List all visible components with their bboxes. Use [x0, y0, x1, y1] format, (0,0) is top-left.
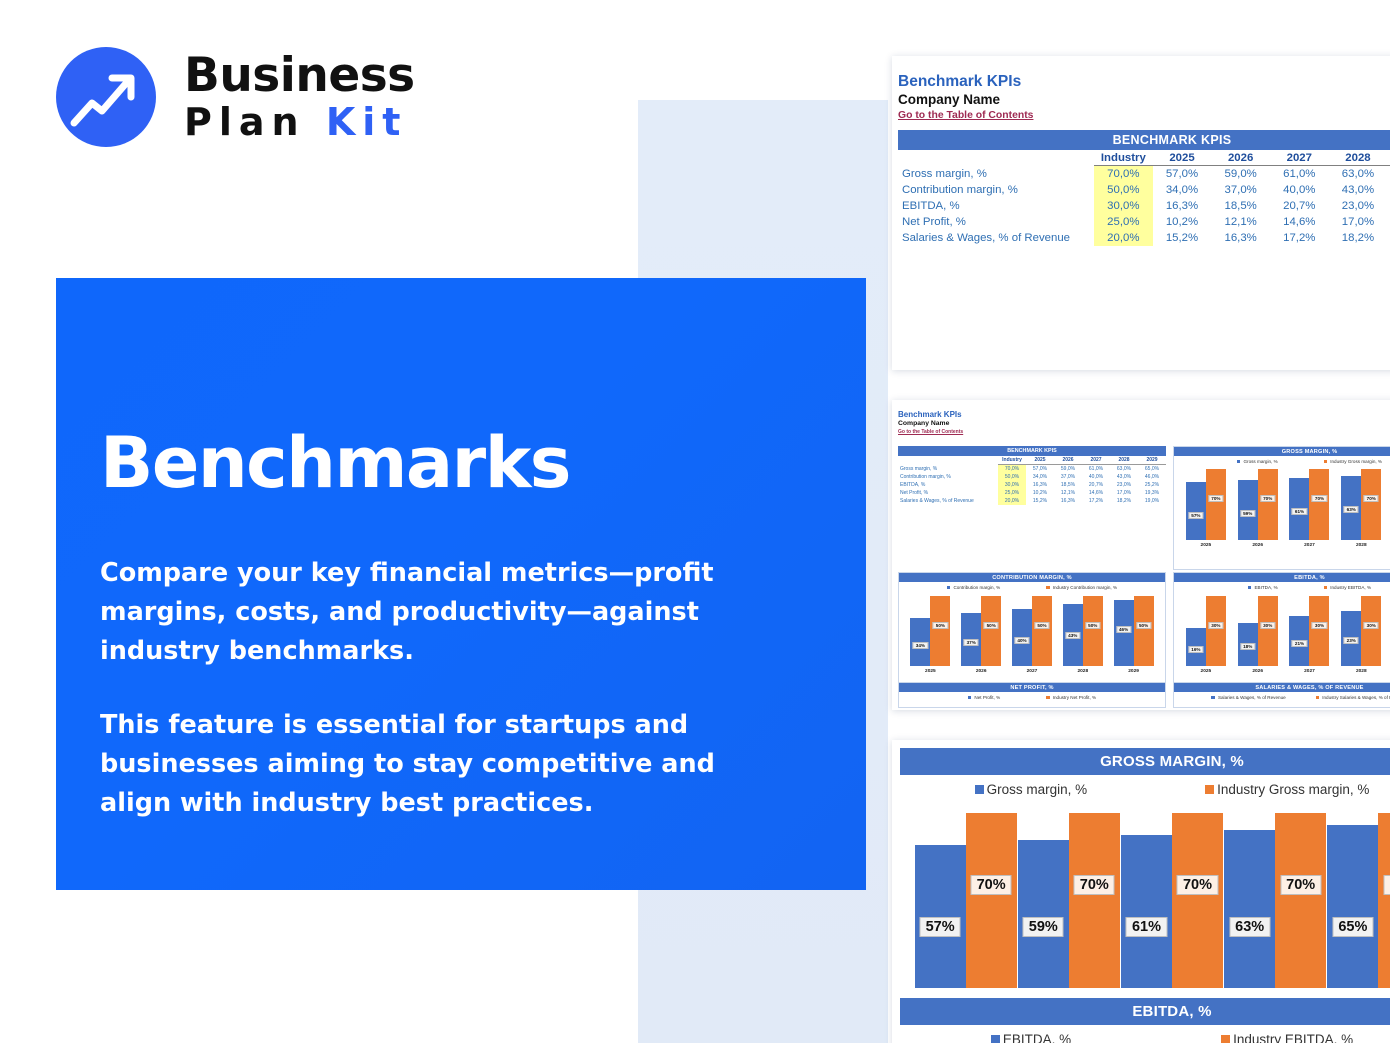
bar-group: 63% 70% — [1224, 813, 1326, 988]
legend-swatch-blue — [1211, 696, 1215, 700]
bar-group: 40%50% — [1012, 596, 1052, 666]
col-2027: 2027 — [1082, 456, 1110, 465]
col-2026: 2026 — [1054, 456, 1082, 465]
bar-company: 59% — [1018, 840, 1069, 988]
hero-paragraph-1: Compare your key financial metrics—profi… — [100, 554, 725, 670]
bar-group: 43%50% — [1063, 596, 1103, 666]
legend-swatch-orange — [1324, 586, 1328, 590]
chart-legend: Contribution margin, % Industry Contribu… — [899, 582, 1165, 590]
legend-series-company: Salaries & Wages, % of Revenue — [1211, 695, 1285, 700]
bar-company: 61% — [1289, 478, 1309, 540]
x-tick: 2025 — [1186, 669, 1226, 674]
toc-link[interactable]: Go to the Table of Contents — [898, 429, 963, 436]
bar-industry: 70% — [1378, 813, 1390, 988]
table-row: Salaries & Wages, % of Revenue20,0%15,2%… — [898, 497, 1166, 505]
chart-title: EBITDA, % — [900, 998, 1390, 1025]
slide-canvas: Business Plan Kit Benchmarks Compare you… — [0, 0, 1390, 1043]
legend-swatch-orange — [1205, 785, 1214, 794]
page-title: Benchmarks — [100, 428, 780, 498]
table-row: Gross margin, %70,0%57,0%59,0%61,0%63,0%… — [898, 465, 1166, 474]
bar-industry: 30% — [1361, 596, 1381, 666]
legend-swatch-blue — [975, 785, 984, 794]
kpi-table-banner: BENCHMARK KPIS — [898, 130, 1390, 150]
legend-swatch-blue — [991, 1035, 1000, 1043]
chart-ebitda-mini[interactable]: EBITDA, % EBITDA, % Industry EBITDA, % 1… — [1173, 572, 1390, 696]
chart-net-profit-mini[interactable]: NET PROFIT, % Net Profit, % Industry Net… — [898, 682, 1166, 708]
legend-series-company: Net Profit, % — [968, 695, 1000, 700]
chart-title: GROSS MARGIN, % — [900, 748, 1390, 775]
bar-company: 40% — [1012, 609, 1032, 666]
x-tick: 2028 — [1341, 543, 1381, 548]
bar-group: 46%50% — [1114, 596, 1154, 666]
brand-name-primary-text: Business — [184, 48, 415, 103]
table-row: Net Profit, %25,0%10,2%12,1%14,6%17,0%19… — [898, 489, 1166, 497]
table-header-row: Industry 2025 2026 2027 2028 2029 — [898, 456, 1166, 465]
x-tick: 2026 — [1238, 543, 1278, 548]
bar-group: 65% 70% — [1327, 813, 1390, 988]
chart-title: EBITDA, % — [1174, 573, 1390, 582]
bar-company: 59% — [1238, 480, 1258, 540]
kpi-table-mini: BENCHMARK KPIS Industry 2025 2026 2027 2… — [898, 446, 1166, 505]
x-tick: 2028 — [1063, 669, 1103, 674]
legend-series-industry: Industry Net Profit, % — [1046, 695, 1096, 700]
bar-company: 63% — [1341, 476, 1361, 540]
chart-title: GROSS MARGIN, % — [1174, 447, 1390, 456]
bar-industry: 50% — [930, 596, 950, 666]
bar-company: 57% — [1186, 482, 1206, 540]
legend-series-industry: Industry Salaries & Wages, % of Revenue — [1316, 695, 1390, 700]
bar-group: 57%70% — [1186, 469, 1226, 540]
chart-legend: Gross margin, % Industry Gross margin, % — [1174, 456, 1390, 464]
brand-name-kit: Kit — [326, 100, 408, 144]
brand-logo: Business Plan Kit — [56, 47, 456, 157]
bar-industry: 50% — [981, 596, 1001, 666]
bar-industry: 70% — [966, 813, 1017, 988]
bar-industry: 70% — [1069, 813, 1120, 988]
bar-group: 21%30% — [1289, 596, 1329, 666]
col-2029: 2029 — [1138, 456, 1166, 465]
x-tick: 2025 — [910, 669, 950, 674]
bar-industry: 70% — [1361, 469, 1381, 540]
bar-company: 21% — [1289, 616, 1309, 666]
legend-series-industry: Industry EBITDA, % — [1221, 1032, 1353, 1043]
chart-legend: EBITDA, % Industry EBITDA, % — [1174, 582, 1390, 590]
legend-series-company: EBITDA, % — [991, 1032, 1071, 1043]
sheet-company-name: Company Name — [898, 420, 963, 429]
chart-legend: Gross margin, % Industry Gross margin, % — [900, 775, 1390, 797]
bar-group: 63%70% — [1341, 469, 1381, 540]
col-2028: 2028 — [1110, 456, 1138, 465]
chart-legend: EBITDA, % Industry EBITDA, % — [900, 1025, 1390, 1043]
growth-arrow-icon — [56, 47, 156, 147]
bar-group: 34%50% — [910, 596, 950, 666]
bar-group: 59% 70% — [1018, 813, 1120, 988]
bar-group: 59%70% — [1238, 469, 1278, 540]
bar-company: 46% — [1114, 600, 1134, 666]
hero-panel: Benchmarks Compare your key financial me… — [56, 278, 866, 890]
sheet-company-name: Company Name — [898, 91, 1033, 109]
bar-industry: 70% — [1275, 813, 1326, 988]
bar-industry: 30% — [1258, 596, 1278, 666]
bar-industry: 30% — [1206, 596, 1226, 666]
brand-name-plan: Plan — [184, 100, 306, 144]
col-2026: 2026 — [1211, 150, 1270, 166]
bar-group: 18%30% — [1238, 596, 1278, 666]
bar-group: 61% 70% — [1121, 813, 1223, 988]
legend-swatch-blue — [947, 586, 951, 590]
bar-company: 63% — [1224, 830, 1275, 988]
brand-name-primary: Business — [184, 51, 415, 100]
toc-link[interactable]: Go to the Table of Contents — [898, 109, 1033, 124]
chart-x-axis: 2025 2026 2027 2028 2029 — [899, 666, 1165, 674]
table-header-row: Industry 2025 2026 2027 2028 2029 — [898, 150, 1390, 166]
sheet-title: Benchmark KPIs — [898, 72, 1033, 91]
legend-swatch-orange — [1046, 586, 1050, 590]
bar-industry: 70% — [1258, 469, 1278, 540]
bar-company: 57% — [915, 845, 966, 988]
bar-industry: 50% — [1134, 596, 1154, 666]
table-row: Contribution margin, %50,0%34,0%37,0%40,… — [898, 182, 1390, 198]
bar-company: 23% — [1341, 611, 1361, 666]
bar-industry: 70% — [1206, 469, 1226, 540]
x-tick: 2027 — [1012, 669, 1052, 674]
table-row: Salaries & Wages, % of Revenue20,0%15,2%… — [898, 230, 1390, 246]
x-tick: 2025 — [1186, 543, 1226, 548]
bar-company: 43% — [1063, 604, 1083, 666]
col-industry: Industry — [1094, 150, 1153, 166]
chart-legend: Salaries & Wages, % of Revenue Industry … — [1174, 692, 1390, 700]
x-tick: 2027 — [1289, 543, 1329, 548]
screenshot-benchmark-dashboard[interactable]: Benchmark KPIs Company Name Go to the Ta… — [892, 400, 1390, 710]
table-row: Gross margin, %70,0%57,0%59,0%61,0%63,0%… — [898, 166, 1390, 183]
legend-series-industry: Industry Gross margin, % — [1205, 782, 1369, 797]
chart-gross-margin-mini[interactable]: GROSS MARGIN, % Gross margin, % Industry… — [1173, 446, 1390, 570]
table-row: EBITDA, %30,0%16,3%18,5%20,7%23,0%25,2% — [898, 198, 1390, 214]
table-row: EBITDA, %30,0%16,3%18,5%20,7%23,0%25,2% — [898, 481, 1166, 489]
bar-industry: 50% — [1083, 596, 1103, 666]
legend-series-company: Gross margin, % — [975, 782, 1088, 797]
chart-title: CONTRIBUTION MARGIN, % — [899, 573, 1165, 582]
x-tick: 2026 — [1238, 669, 1278, 674]
bar-company: 16% — [1186, 628, 1206, 666]
bar-company: 18% — [1238, 623, 1258, 666]
bar-industry: 70% — [1309, 469, 1329, 540]
chart-legend: Net Profit, % Industry Net Profit, % — [899, 692, 1165, 700]
bar-group: 16%30% — [1186, 596, 1226, 666]
col-2025: 2025 — [1153, 150, 1212, 166]
x-tick: 2027 — [1289, 669, 1329, 674]
col-2028: 2028 — [1329, 150, 1388, 166]
bar-group: 61%70% — [1289, 469, 1329, 540]
chart-plot-area: 57% 70% 59% 70% 61% 70% 63% 70% 65% 70 — [900, 813, 1390, 988]
bar-company: 61% — [1121, 835, 1172, 988]
legend-swatch-orange — [1324, 460, 1328, 464]
table-row: Net Profit, %25,0%10,2%12,1%14,6%17,0%19… — [898, 214, 1390, 230]
x-tick: 2028 — [1341, 669, 1381, 674]
bar-company: 34% — [910, 618, 930, 666]
chart-contribution-margin-mini[interactable]: CONTRIBUTION MARGIN, % Contribution marg… — [898, 572, 1166, 696]
kpi-table-banner: BENCHMARK KPIS — [898, 446, 1166, 456]
chart-plot-area: 57%70% 59%70% 61%70% 63%70% 65%70% — [1174, 464, 1390, 540]
legend-swatch-blue — [1248, 586, 1252, 590]
bar-group: 57% 70% — [915, 813, 1017, 988]
legend-swatch-orange — [1221, 1035, 1230, 1043]
bar-company: 37% — [961, 613, 981, 666]
legend-swatch-blue — [1237, 460, 1241, 464]
col-industry: Industry — [998, 456, 1026, 465]
screenshot-gross-margin-chart[interactable]: GROSS MARGIN, % Gross margin, % Industry… — [892, 740, 1390, 1043]
legend-swatch-orange — [1046, 696, 1050, 700]
brand-name-secondary: Plan Kit — [184, 102, 415, 144]
col-2027: 2027 — [1270, 150, 1329, 166]
chart-title: NET PROFIT, % — [899, 683, 1165, 692]
chart-title: SALARIES & WAGES, % OF REVENUE — [1174, 683, 1390, 692]
table-row: Contribution margin, %50,0%34,0%37,0%40,… — [898, 473, 1166, 481]
legend-swatch-orange — [1316, 696, 1320, 700]
screenshot-benchmark-kpis-table[interactable]: Benchmark KPIs Company Name Go to the Ta… — [892, 56, 1390, 370]
bar-industry: 70% — [1172, 813, 1223, 988]
x-tick: 2029 — [1114, 669, 1154, 674]
hero-paragraph-2: This feature is essential for startups a… — [100, 706, 725, 822]
chart-x-axis: 2025 2026 2027 2028 2029 — [1174, 540, 1390, 548]
chart-x-axis: 2025 2026 2027 2028 2029 — [1174, 666, 1390, 674]
bar-group: 23%30% — [1341, 596, 1381, 666]
kpi-table: BENCHMARK KPIS Industry 2025 2026 2027 2… — [898, 130, 1390, 246]
bar-group: 37%50% — [961, 596, 1001, 666]
chart-salaries-wages-mini[interactable]: SALARIES & WAGES, % OF REVENUE Salaries … — [1173, 682, 1390, 708]
chart-plot-area: 16%30% 18%30% 21%30% 23%30% 25%30% — [1174, 590, 1390, 666]
chart-gross-margin-large[interactable]: GROSS MARGIN, % Gross margin, % Industry… — [900, 748, 1390, 1006]
bar-company: 65% — [1327, 825, 1378, 988]
chart-ebitda-large[interactable]: EBITDA, % EBITDA, % Industry EBITDA, % — [900, 998, 1390, 1043]
bar-industry: 50% — [1032, 596, 1052, 666]
col-2025: 2025 — [1026, 456, 1054, 465]
legend-swatch-blue — [968, 696, 972, 700]
chart-plot-area: 34%50% 37%50% 40%50% 43%50% 46%50% — [899, 590, 1165, 666]
sheet-title: Benchmark KPIs — [898, 410, 963, 420]
x-tick: 2026 — [961, 669, 1001, 674]
bar-industry: 30% — [1309, 596, 1329, 666]
